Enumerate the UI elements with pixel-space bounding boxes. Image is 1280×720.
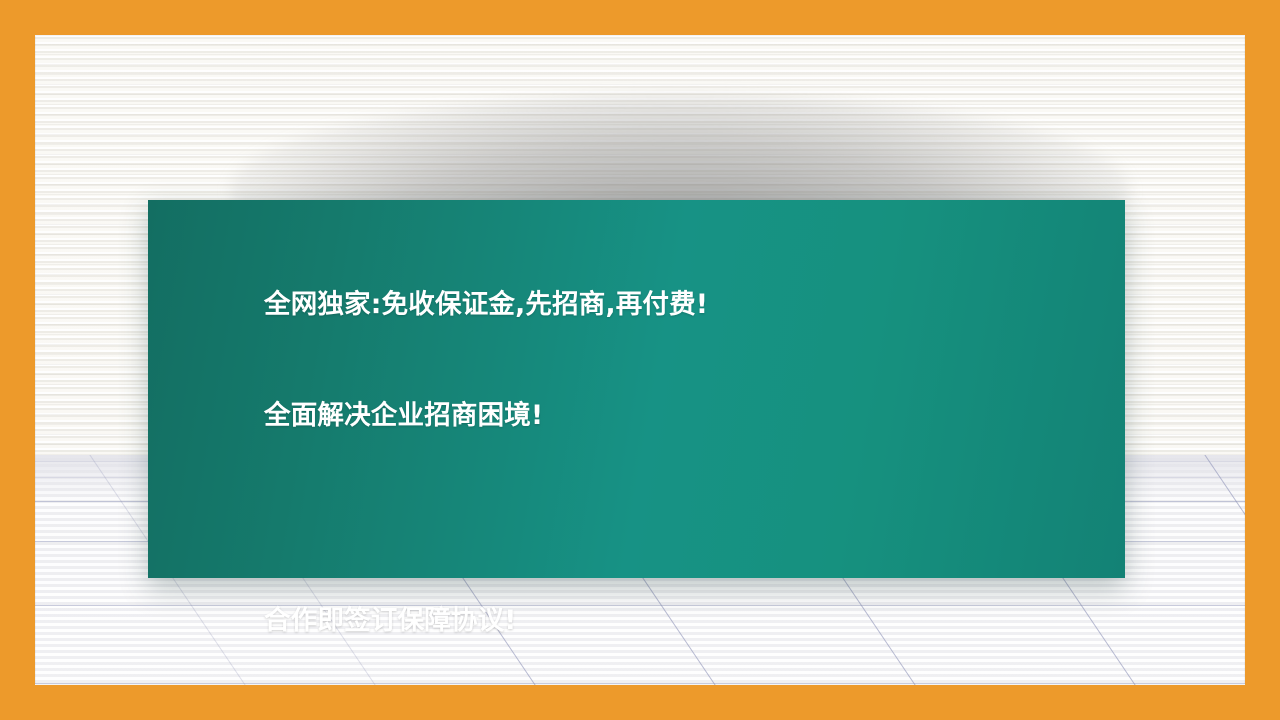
promo-slide: 全网独家:免收保证金,先招商,再付费! 全面解决企业招商困境! 合作即签订保障协…	[0, 0, 1280, 720]
panel-text-block: 全网独家:免收保证金,先招商,再付费! 全面解决企业招商困境! 合作即签订保障协…	[264, 212, 1107, 685]
green-message-panel: 全网独家:免收保证金,先招商,再付费! 全面解决企业招商困境! 合作即签订保障协…	[148, 200, 1125, 578]
panel-line-3: 合作即签订保障协议!	[264, 602, 1107, 639]
panel-line-2: 全面解决企业招商困境!	[264, 397, 1107, 434]
studio-scene: 全网独家:免收保证金,先招商,再付费! 全面解决企业招商困境! 合作即签订保障协…	[35, 35, 1245, 685]
panel-line-1: 全网独家:免收保证金,先招商,再付费!	[264, 286, 1107, 323]
